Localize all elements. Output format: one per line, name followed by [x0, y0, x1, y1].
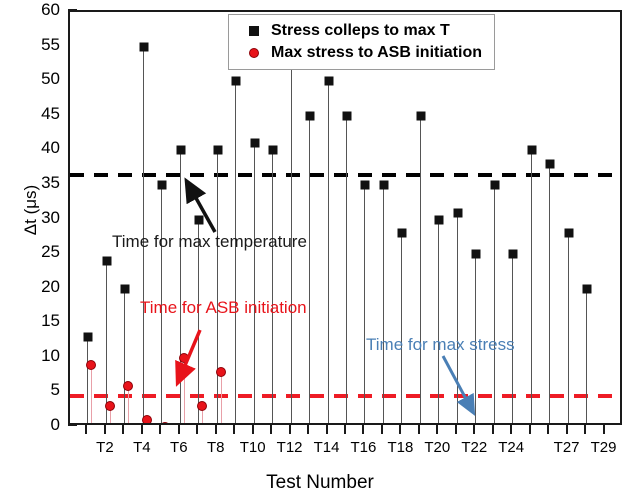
stem-black — [438, 220, 439, 424]
data-point-stress-colleps — [121, 284, 130, 293]
x-axis-tick — [233, 425, 235, 434]
data-point-stress-colleps — [435, 215, 444, 224]
stem-black — [383, 185, 384, 423]
x-axis-tick — [326, 425, 328, 434]
data-point-stress-colleps — [84, 333, 93, 342]
stem-black — [124, 289, 125, 423]
stem-red — [128, 386, 129, 424]
data-point-stress-colleps — [379, 180, 388, 189]
stem-black — [568, 233, 569, 423]
x-axis-tick-label: T20 — [424, 440, 450, 456]
x-axis-tick — [362, 425, 364, 434]
stem-black — [420, 116, 421, 423]
data-point-stress-colleps — [509, 250, 518, 259]
x-axis-tick-label: T8 — [207, 440, 225, 456]
chart-figure: Δt (μs) 051015202530354045505560 T2T4T6T… — [0, 0, 640, 501]
x-axis-tick — [159, 425, 161, 434]
data-point-stress-colleps — [250, 139, 259, 148]
data-point-stress-colleps — [324, 77, 333, 86]
data-point-stress-colleps — [139, 42, 148, 51]
x-axis-tick — [381, 425, 383, 434]
stem-red — [91, 365, 92, 423]
reference-line-max-temperature — [70, 173, 620, 177]
data-point-asb-initiation — [216, 367, 226, 377]
y-axis-tick-label: 50 — [20, 70, 60, 87]
stem-black — [494, 185, 495, 423]
plot-inner — [70, 12, 620, 423]
stem-black — [346, 116, 347, 423]
x-axis-tick — [455, 425, 457, 434]
stem-black — [309, 116, 310, 423]
x-axis-tick-label: T10 — [240, 440, 266, 456]
stem-black — [531, 150, 532, 423]
data-point-asb-initiation — [160, 422, 170, 423]
x-axis-label: Test Number — [0, 472, 640, 494]
x-axis-tick — [178, 425, 180, 434]
x-axis-tick — [252, 425, 254, 434]
y-axis-tick-label: 40 — [20, 139, 60, 156]
x-axis-tick — [603, 425, 605, 434]
data-point-stress-colleps — [416, 111, 425, 120]
reference-line-asb-initiation — [70, 394, 620, 398]
y-axis-tick-label: 20 — [20, 278, 60, 295]
x-axis-tick — [492, 425, 494, 434]
stem-black — [217, 150, 218, 423]
stem-black — [457, 213, 458, 423]
legend-label: Stress colleps to max T — [271, 22, 450, 40]
x-axis-tick — [344, 425, 346, 434]
y-axis-tick-label: 60 — [20, 1, 60, 18]
data-point-stress-colleps — [269, 146, 278, 155]
x-axis-tick — [566, 425, 568, 434]
data-point-stress-colleps — [361, 180, 370, 189]
x-axis-tick — [529, 425, 531, 434]
stem-red — [221, 372, 222, 423]
x-axis-tick — [473, 425, 475, 434]
data-point-stress-colleps — [453, 208, 462, 217]
y-axis-tick-label: 30 — [20, 209, 60, 226]
data-point-stress-colleps — [546, 160, 555, 169]
y-axis-tick-label: 35 — [20, 174, 60, 191]
y-axis-tick-label: 45 — [20, 105, 60, 122]
x-axis-tick — [547, 425, 549, 434]
y-axis-tick-label: 15 — [20, 312, 60, 329]
data-point-stress-colleps — [195, 215, 204, 224]
data-point-stress-colleps — [176, 146, 185, 155]
x-axis-tick-label: T2 — [96, 440, 114, 456]
x-axis-tick — [141, 425, 143, 434]
data-point-stress-colleps — [527, 146, 536, 155]
x-axis-tick — [307, 425, 309, 434]
data-point-asb-initiation — [123, 381, 133, 391]
x-axis-tick-label: T27 — [554, 440, 580, 456]
data-point-asb-initiation — [197, 401, 207, 411]
data-point-asb-initiation — [142, 415, 152, 423]
x-axis-tick-label: T16 — [351, 440, 377, 456]
x-axis-tick-label: T4 — [133, 440, 151, 456]
legend-item-stress-colleps: Stress colleps to max T — [237, 20, 482, 42]
stem-red — [184, 358, 185, 423]
x-axis-tick — [418, 425, 420, 434]
y-axis-tick-label: 10 — [20, 347, 60, 364]
x-axis-tick — [436, 425, 438, 434]
x-axis-tick — [289, 425, 291, 434]
y-axis-tick-label: 0 — [20, 416, 60, 433]
stem-black — [254, 143, 255, 423]
x-axis-tick — [584, 425, 586, 434]
data-point-stress-colleps — [343, 111, 352, 120]
y-axis-tick-label: 55 — [20, 36, 60, 53]
annotation-max-temperature: Time for max temperature — [112, 232, 307, 252]
stem-black — [364, 185, 365, 423]
x-axis-tick — [510, 425, 512, 434]
stem-black — [401, 233, 402, 423]
x-axis-tick-label: T22 — [461, 440, 487, 456]
data-point-asb-initiation — [105, 401, 115, 411]
stem-black — [87, 337, 88, 423]
x-axis-tick-label: T12 — [277, 440, 303, 456]
data-point-stress-colleps — [472, 250, 481, 259]
stem-black — [328, 81, 329, 423]
data-point-stress-colleps — [398, 229, 407, 238]
data-point-stress-colleps — [232, 77, 241, 86]
data-point-stress-colleps — [564, 229, 573, 238]
x-axis-tick-label: T6 — [170, 440, 188, 456]
data-point-stress-colleps — [102, 257, 111, 266]
x-axis-tick-label: T29 — [591, 440, 617, 456]
x-axis-tick-label: T24 — [498, 440, 524, 456]
legend-square-icon — [237, 26, 271, 36]
data-point-stress-colleps — [306, 111, 315, 120]
stem-black — [586, 289, 587, 423]
legend: Stress colleps to max T Max stress to AS… — [228, 14, 495, 70]
x-axis-tick — [196, 425, 198, 434]
stem-black — [272, 150, 273, 423]
data-point-stress-colleps — [158, 180, 167, 189]
x-axis-tick — [122, 425, 124, 434]
y-axis-tick-label: 5 — [20, 381, 60, 398]
plot-area — [68, 10, 622, 425]
data-point-asb-initiation — [86, 360, 96, 370]
x-axis-tick — [104, 425, 106, 434]
legend-item-max-stress-asb: Max stress to ASB initiation — [237, 42, 482, 64]
x-axis-tick — [399, 425, 401, 434]
data-point-asb-initiation — [179, 353, 189, 363]
stem-black — [106, 261, 107, 423]
data-point-stress-colleps — [583, 284, 592, 293]
stem-black — [180, 150, 181, 423]
legend-label: Max stress to ASB initiation — [271, 44, 482, 62]
stem-black — [549, 164, 550, 423]
data-point-stress-colleps — [490, 180, 499, 189]
annotation-max-stress: Time for max stress — [366, 335, 515, 355]
x-axis-tick — [85, 425, 87, 434]
data-point-stress-colleps — [213, 146, 222, 155]
x-axis-tick-label: T14 — [314, 440, 340, 456]
legend-circle-icon — [237, 48, 271, 58]
y-axis-tick-label: 25 — [20, 243, 60, 260]
x-axis-tick — [270, 425, 272, 434]
stem-black — [235, 81, 236, 423]
x-axis-tick-label: T18 — [387, 440, 413, 456]
x-axis-tick — [215, 425, 217, 434]
annotation-asb-initiation: Time for ASB initiation — [140, 298, 307, 318]
